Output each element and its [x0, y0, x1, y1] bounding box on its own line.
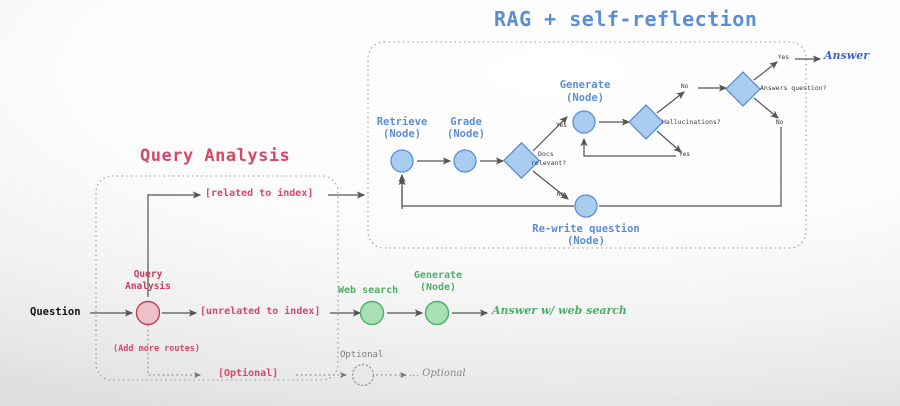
edge-label-unrelated-to-index: [unrelated to index] [200, 306, 320, 318]
decision-hallucinations [629, 105, 663, 139]
edge-label-optional: [Optional] [218, 368, 278, 380]
node-generate-rag [573, 111, 595, 133]
output-answer: Answer [824, 50, 869, 63]
node-query-analysis-label-line2: Analysis [122, 281, 174, 292]
edge-answers-no-loop-to-rewrite [599, 127, 781, 206]
node-rewrite-label-line2: (Node) [528, 235, 644, 247]
output-optional: … Optional [409, 368, 466, 380]
decision-answers-question-label: Answers question? [760, 85, 827, 93]
node-query-analysis [137, 302, 160, 325]
node-rewrite-question [575, 195, 597, 217]
add-more-routes-label: (Add more routes) [113, 344, 200, 354]
input-question-label: Question [30, 306, 81, 318]
edge-label-docs-yes: Yes [556, 122, 567, 129]
decision-answers-question [726, 72, 760, 106]
node-generate-rag-label-line2: (Node) [556, 92, 614, 104]
edge-answers-yes-up [754, 62, 777, 80]
edge-hallucinations-yes-loop-to-generate [584, 139, 676, 156]
decision-hallucinations-label: Hallucinations? [662, 119, 721, 127]
output-answer-web-search: Answer w/ web search [492, 305, 627, 318]
edge-label-hallucinations-no: No [681, 83, 688, 90]
node-grade-label-line2: (Node) [440, 128, 492, 140]
edge-label-related-to-index: [related to index] [205, 188, 313, 200]
node-generate-web-label-line1: Generate [409, 270, 467, 282]
edge-label-answers-yes: Yes [778, 54, 789, 61]
node-generate-web [426, 302, 449, 325]
node-optional-label: Optional [340, 350, 383, 361]
node-retrieve [391, 150, 413, 172]
edge-label-answers-no: No [776, 119, 783, 126]
edge-answers-no-down [754, 98, 778, 118]
node-rewrite-label-line1: Re-write question [528, 223, 644, 235]
node-query-analysis-label-line1: Query [122, 269, 174, 280]
node-web-search-label: Web search [338, 285, 398, 297]
edge-hallucinations-yes-down [657, 131, 681, 152]
query-analysis-title: Query Analysis [140, 146, 290, 166]
node-generate-web-label-line2: (Node) [409, 282, 467, 294]
decision-docs-relevant-label-line2: relevant? [531, 160, 566, 168]
edge-rewrite-to-retrieve [402, 178, 574, 206]
edge-label-docs-no: No [557, 191, 564, 198]
node-retrieve-label-line1: Retrieve [376, 116, 428, 128]
rag-title: RAG + self-reflection [494, 8, 757, 32]
decision-docs-relevant-label-line1: Docs [538, 151, 554, 159]
node-generate-rag-label-line1: Generate [556, 79, 614, 91]
node-grade [454, 150, 476, 172]
node-optional [353, 365, 374, 386]
node-retrieve-label-line2: (Node) [376, 128, 428, 140]
node-grade-label-line1: Grade [440, 116, 492, 128]
node-web-search [361, 302, 384, 325]
edge-hallucinations-no-up [657, 92, 684, 113]
diagram-canvas: RAG + self-reflection Query Analysis Que… [0, 0, 900, 406]
edge-label-hallucinations-yes: Yes [679, 151, 690, 158]
